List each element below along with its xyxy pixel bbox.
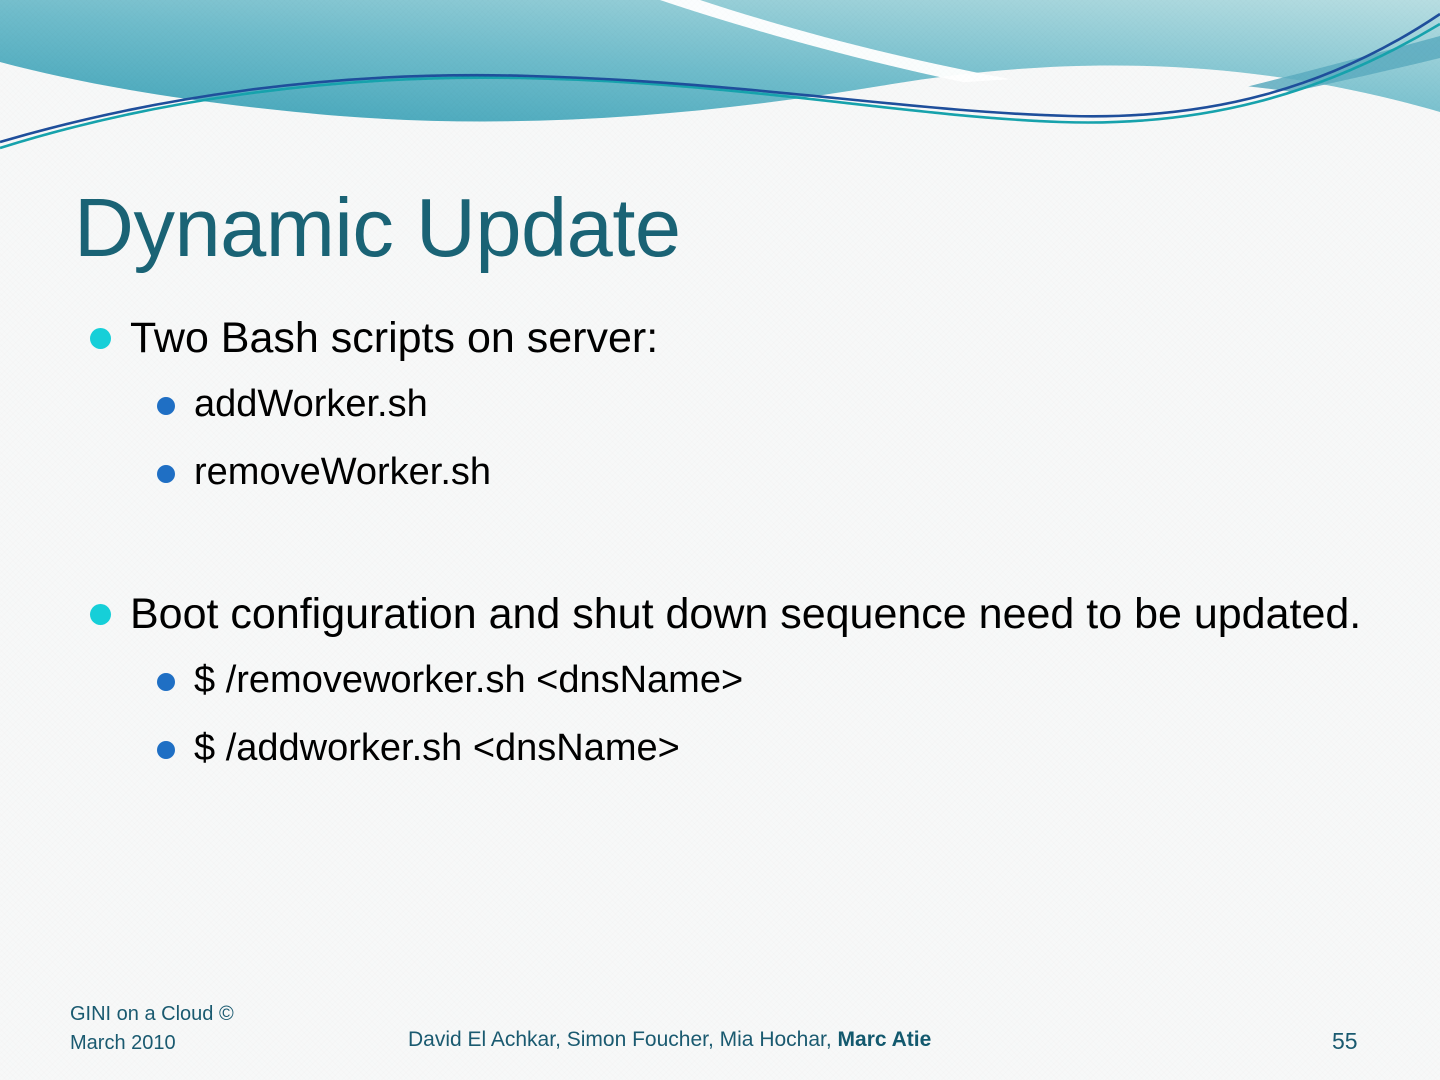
bullet-level2: addWorker.sh <box>74 382 1374 428</box>
footer-copyright-line2: March 2010 <box>70 1029 234 1058</box>
slide-body: Two Bash scripts on server: addWorker.sh… <box>74 312 1374 779</box>
slide-content: Dynamic Update Two Bash scripts on serve… <box>0 0 1440 1080</box>
bullet-level2-text: addWorker.sh <box>194 383 428 425</box>
bullet-level2: $ /removeworker.sh <dnsName> <box>74 658 1374 704</box>
footer-copyright: GINI on a Cloud © March 2010 <box>70 1000 234 1058</box>
bullet-level2-text: $ /removeworker.sh <dnsName> <box>194 659 743 701</box>
footer-authors: David El Achkar, Simon Foucher, Mia Hoch… <box>408 1028 931 1052</box>
bullet-dot-cyan-icon <box>90 328 111 349</box>
bullet-level1: Boot configuration and shut down sequenc… <box>74 588 1374 640</box>
spacer <box>74 712 1374 726</box>
bullet-dot-blue-icon <box>157 397 175 415</box>
bullet-level1: Two Bash scripts on server: <box>74 312 1374 364</box>
bullet-dot-blue-icon <box>157 465 175 483</box>
bullet-dot-cyan-icon <box>90 604 111 625</box>
footer-authors-bold: Marc Atie <box>838 1028 932 1051</box>
bullet-dot-blue-icon <box>157 673 175 691</box>
footer-copyright-line1: GINI on a Cloud © <box>70 1000 234 1029</box>
bullet-level1-text: Two Bash scripts on server: <box>130 314 658 362</box>
slide-title: Dynamic Update <box>74 186 681 269</box>
bullet-level2: $ /addworker.sh <dnsName> <box>74 726 1374 772</box>
footer-authors-plain: David El Achkar, Simon Foucher, Mia Hoch… <box>408 1028 838 1051</box>
presentation-slide: Dynamic Update Two Bash scripts on serve… <box>0 0 1440 1080</box>
spacer <box>74 370 1374 382</box>
bullet-level2: removeWorker.sh <box>74 450 1374 496</box>
bullet-level1-text: Boot configuration and shut down sequenc… <box>130 590 1361 638</box>
bullet-level2-text: removeWorker.sh <box>194 451 491 493</box>
slide-page-number: 55 <box>1332 1028 1358 1055</box>
bullet-level2-text: $ /addworker.sh <dnsName> <box>194 727 680 769</box>
spacer <box>74 646 1374 658</box>
group-spacer <box>74 504 1374 588</box>
bullet-dot-blue-icon <box>157 741 175 759</box>
spacer <box>74 436 1374 450</box>
